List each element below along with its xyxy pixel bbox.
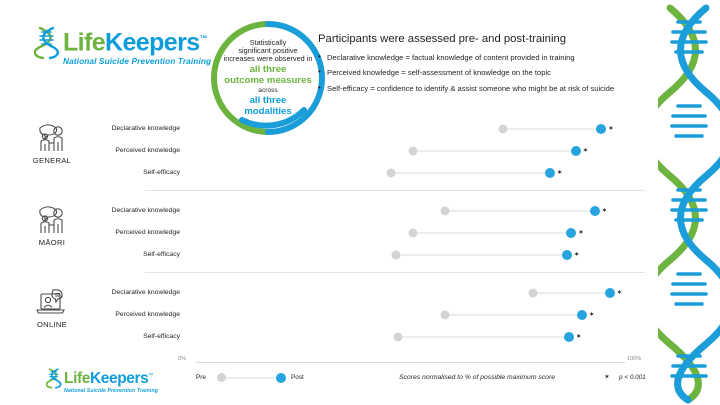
pre-marker[interactable]	[440, 207, 449, 216]
dumbbell-chart: GENERAL Declarative knowledge ✶ Perceive…	[0, 118, 660, 368]
post-marker[interactable]	[564, 332, 574, 342]
logo-tagline: National Suicide Prevention Training	[63, 56, 211, 66]
significance-star: ✶	[557, 170, 563, 177]
significance-star: ✶	[583, 148, 589, 155]
logo-tagline: National Suicide Prevention Training	[64, 388, 158, 394]
measure-label: Declarative knowledge	[60, 289, 180, 296]
chart-row: Self-efficacy ✶	[0, 328, 660, 346]
chart-row: Self-efficacy ✶	[0, 246, 660, 264]
significance-star: ✶	[578, 230, 584, 237]
connector-line	[533, 292, 610, 294]
significance-star: ✶	[576, 334, 582, 341]
connector-line	[445, 210, 595, 212]
header-block: Participants were assessed pre- and post…	[318, 33, 648, 100]
pre-marker[interactable]	[498, 125, 507, 134]
post-marker[interactable]	[562, 250, 572, 260]
post-marker[interactable]	[605, 288, 615, 298]
measure-label: Perceived knowledge	[60, 147, 180, 154]
dna-decoration	[658, 0, 720, 405]
post-marker[interactable]	[590, 206, 600, 216]
logo-keepers-text: Keepers	[105, 28, 199, 56]
logo-life-text: Life	[64, 370, 90, 387]
list-item: Perceived knowledge = self-assessment of…	[318, 69, 648, 77]
chart-legend: Pre Post Scores normalised to % of possi…	[196, 370, 656, 386]
badge-highlight-1-line-1: all three	[250, 64, 287, 75]
chart-group-online: ONLINE Declarative knowledge ✶ Perceived…	[0, 282, 660, 358]
pre-marker[interactable]	[393, 333, 402, 342]
badge-line-3: increases were observed in	[224, 55, 313, 63]
post-marker[interactable]	[566, 228, 576, 238]
badge-highlight-2-line-1: all three	[250, 95, 287, 106]
measure-label: Self-efficacy	[60, 333, 180, 340]
row-plot: ✶	[196, 142, 625, 160]
slide-canvas: LifeKeepers™ National Suicide Prevention…	[0, 0, 720, 405]
connector-line	[391, 172, 550, 174]
measure-label: Self-efficacy	[60, 251, 180, 258]
legend-p-value: p < 0.001	[619, 374, 646, 381]
row-plot: ✶	[196, 306, 625, 324]
post-marker[interactable]	[571, 146, 581, 156]
logo-wordmark: LifeKeepers™	[63, 26, 211, 55]
pre-marker[interactable]	[408, 147, 417, 156]
badge-highlight-1-line-2: outcome measures	[224, 75, 311, 86]
post-marker[interactable]	[596, 124, 606, 134]
chart-row: Declarative knowledge ✶	[0, 202, 660, 220]
row-plot: ✶	[196, 202, 625, 220]
connector-line	[398, 336, 570, 338]
logo-dna-icon	[34, 26, 60, 60]
logo-keepers-text: Keepers	[90, 370, 148, 387]
normalisation-note: Scores normalised to % of possible maxim…	[399, 374, 555, 381]
badge-highlight-2-line-2: modalities	[244, 106, 291, 117]
page-title: Participants were assessed pre- and post…	[318, 33, 648, 45]
pre-marker[interactable]	[391, 251, 400, 260]
chart-row: Declarative knowledge ✶	[0, 120, 660, 138]
pre-marker[interactable]	[440, 311, 449, 320]
list-item: Declarative knowledge = factual knowledg…	[318, 54, 648, 62]
chart-group-general: GENERAL Declarative knowledge ✶ Perceive…	[0, 118, 660, 194]
legend-significance-star: ✶	[604, 373, 610, 381]
trademark-symbol: ™	[200, 34, 207, 43]
post-marker[interactable]	[545, 168, 555, 178]
significance-star: ✶	[617, 290, 623, 297]
axis-min-label: 0%	[178, 356, 186, 362]
chart-group-maori: MĀORI Declarative knowledge ✶ Perceived …	[0, 200, 660, 276]
chart-row: Self-efficacy ✶	[0, 164, 660, 182]
logo-dna-icon	[46, 368, 62, 389]
list-item: Self-efficacy = confidence to identify &…	[318, 85, 648, 93]
measure-label: Self-efficacy	[60, 169, 180, 176]
badge-connector: across	[258, 87, 277, 94]
lifekeepers-logo-bottom: LifeKeepers™ National Suicide Prevention…	[46, 368, 158, 394]
axis-max-label: 100%	[627, 356, 641, 362]
lifekeepers-logo-top: LifeKeepers™ National Suicide Prevention…	[34, 26, 211, 66]
chart-row: Perceived knowledge ✶	[0, 306, 660, 324]
connector-line	[445, 314, 582, 316]
significance-star: ✶	[608, 126, 614, 133]
significance-star: ✶	[574, 252, 580, 259]
legend-connector-line	[223, 377, 281, 379]
connector-line	[413, 232, 572, 234]
legend-post-label: Post	[291, 374, 304, 381]
row-plot: ✶	[196, 246, 625, 264]
legend-pre-label: Pre	[196, 374, 206, 381]
row-plot: ✶	[196, 328, 625, 346]
connector-line	[503, 128, 602, 130]
group-divider	[145, 190, 645, 191]
row-plot: ✶	[196, 120, 625, 138]
trademark-symbol: ™	[148, 373, 153, 379]
measure-label: Declarative knowledge	[60, 125, 180, 132]
row-plot: ✶	[196, 164, 625, 182]
row-plot: ✶	[196, 224, 625, 242]
chart-row: Perceived knowledge ✶	[0, 142, 660, 160]
legend-pre-marker	[217, 373, 226, 382]
definition-list: Declarative knowledge = factual knowledg…	[318, 54, 648, 93]
logo-wordmark: LifeKeepers™	[64, 368, 158, 387]
row-plot: ✶	[196, 284, 625, 302]
logo-life-text: Life	[63, 28, 105, 56]
chart-row: Perceived knowledge ✶	[0, 224, 660, 242]
significance-star: ✶	[589, 312, 595, 319]
group-divider	[145, 272, 645, 273]
post-marker[interactable]	[577, 310, 587, 320]
measure-label: Perceived knowledge	[60, 311, 180, 318]
chart-row: Declarative knowledge ✶	[0, 284, 660, 302]
pre-marker[interactable]	[387, 169, 396, 178]
pre-marker[interactable]	[528, 289, 537, 298]
measure-label: Declarative knowledge	[60, 207, 180, 214]
connector-line	[396, 254, 568, 256]
legend-post-marker	[276, 373, 286, 383]
x-axis-line	[196, 362, 625, 363]
pre-marker[interactable]	[408, 229, 417, 238]
measure-label: Perceived knowledge	[60, 229, 180, 236]
connector-line	[413, 150, 576, 152]
significance-star: ✶	[602, 208, 608, 215]
